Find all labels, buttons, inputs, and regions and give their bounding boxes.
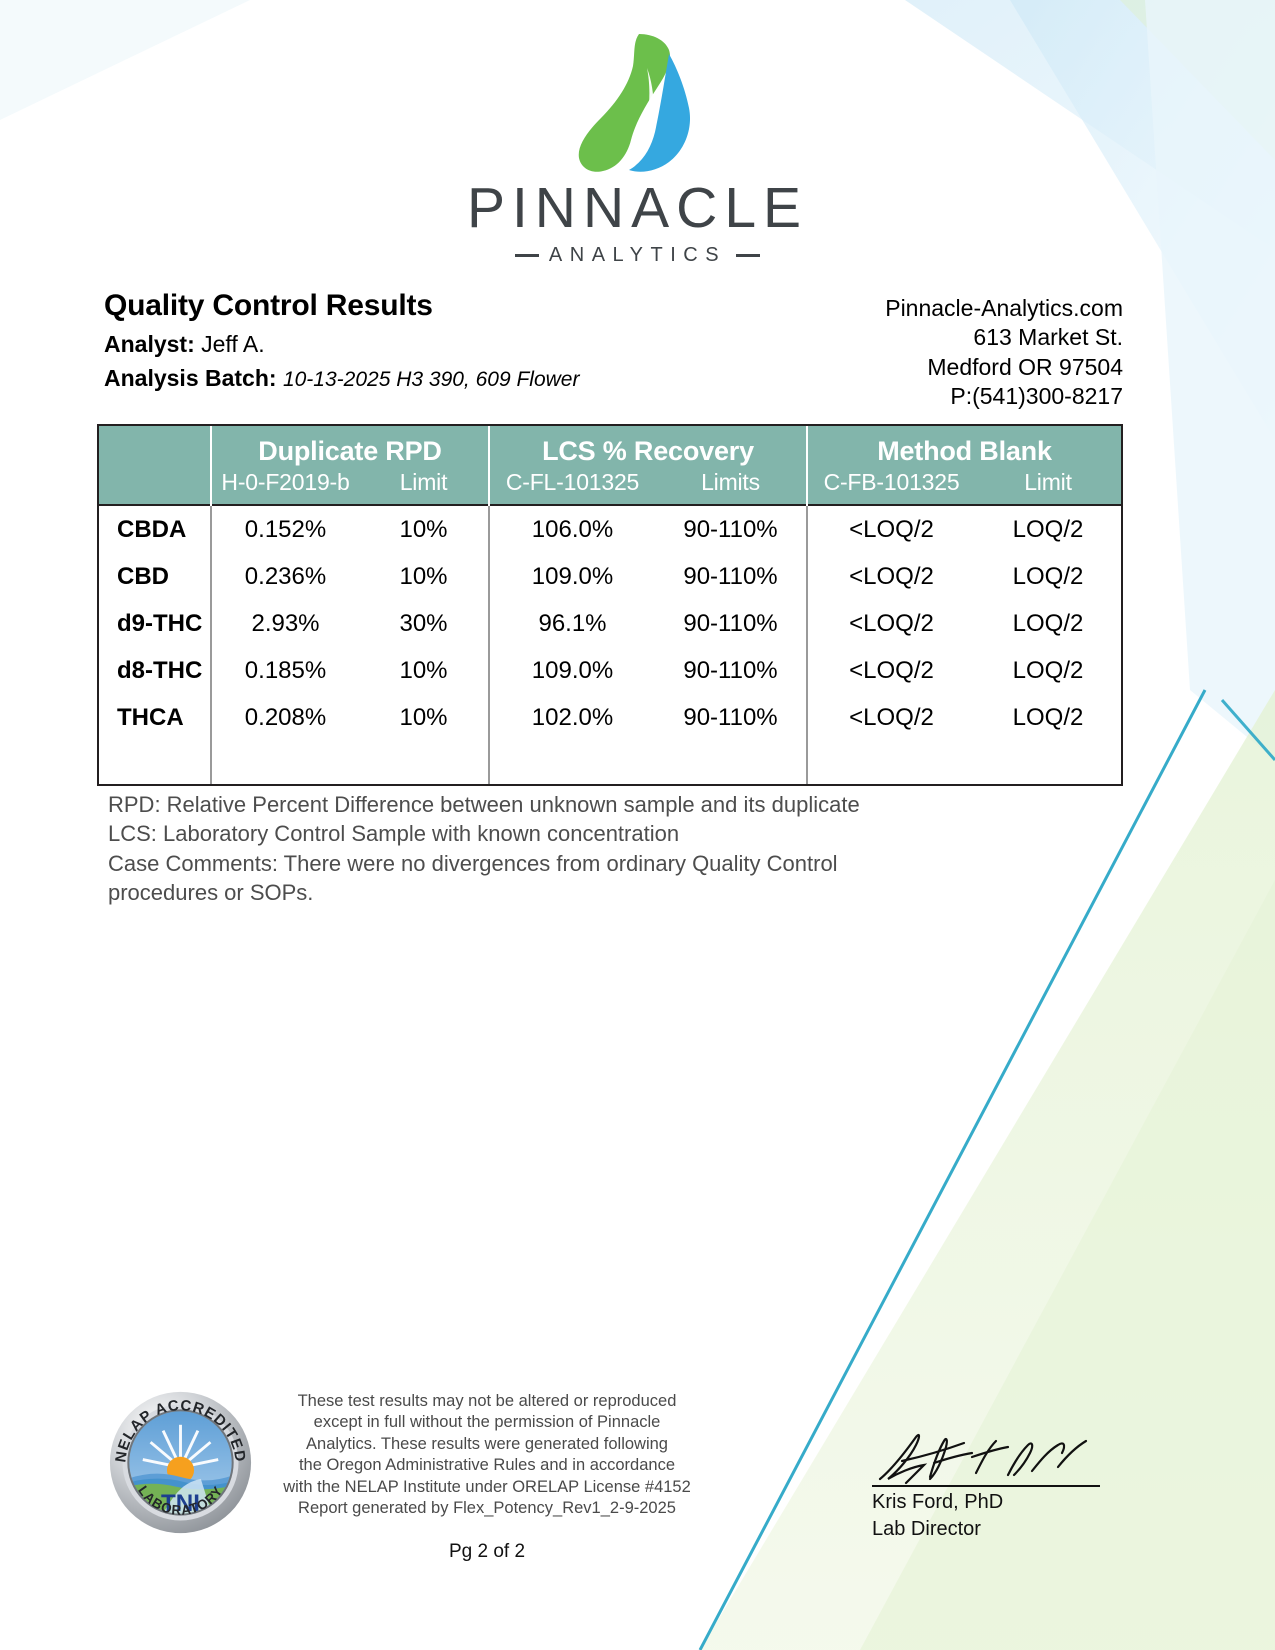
row-blank-value: <LOQ/2 [807, 553, 975, 600]
subheader-lcs-limits: Limits [655, 469, 807, 505]
row-lcs-value: 109.0% [489, 553, 655, 600]
row-blank-limit: LOQ/2 [975, 600, 1121, 647]
disclaimer-line-6: Report generated by Flex_Potency_Rev1_2-… [252, 1498, 722, 1519]
row-blank-value: <LOQ/2 [807, 647, 975, 694]
subheader-empty [99, 469, 211, 505]
analysis-batch-row: Analysis Batch: 10-13-2025 H3 390, 609 F… [104, 363, 824, 394]
spacer-cell [807, 741, 975, 784]
row-lcs-value: 109.0% [489, 647, 655, 694]
analysis-batch-value: 10-13-2025 H3 390, 609 Flower [283, 368, 580, 391]
table-row: d8-THC 0.185% 10% 109.0% 90-110% <LOQ/2 … [99, 647, 1121, 694]
group-header-empty [99, 426, 211, 469]
logo-rule-left [515, 254, 539, 257]
note-rpd-definition: RPD: Relative Percent Difference between… [108, 790, 1088, 819]
row-blank-value: <LOQ/2 [807, 505, 975, 553]
disclaimer-line-4: the Oregon Administrative Rules and in a… [252, 1455, 722, 1476]
spacer-cell [359, 741, 489, 784]
group-header-method-blank: Method Blank [807, 426, 1121, 469]
contact-phone: P:(541)300-8217 [885, 382, 1123, 411]
row-rpd-value: 0.152% [211, 505, 359, 553]
logo-subtitle-row: ANALYTICS [0, 244, 1275, 267]
spacer-cell [975, 741, 1121, 784]
spacer-cell [211, 741, 359, 784]
logo-wordmark: PINNACLE [0, 180, 1275, 237]
flask-icon [573, 28, 703, 178]
row-blank-limit: LOQ/2 [975, 505, 1121, 553]
row-blank-limit: LOQ/2 [975, 647, 1121, 694]
row-lcs-limits: 90-110% [655, 505, 807, 553]
nelap-tni-accreditation-seal-icon: TNI NELAP ACCREDITED LABORATORY [108, 1390, 253, 1535]
qc-report-page: PINNACLE ANALYTICS Quality Control Resul… [0, 0, 1275, 1650]
subheader-rpd-limit: Limit [359, 469, 489, 505]
subheader-lcs-sample-id: C-FL-101325 [489, 469, 655, 505]
row-lcs-limits: 90-110% [655, 694, 807, 741]
logo-subtitle: ANALYTICS [549, 244, 726, 267]
row-rpd-value: 0.208% [211, 694, 359, 741]
brand-logo: PINNACLE ANALYTICS [0, 28, 1275, 267]
row-rpd-limit: 10% [359, 694, 489, 741]
quality-control-table: Duplicate RPD LCS % Recovery Method Blan… [97, 424, 1123, 786]
table-row: CBDA 0.152% 10% 106.0% 90-110% <LOQ/2 LO… [99, 505, 1121, 553]
group-header-lcs-recovery: LCS % Recovery [489, 426, 807, 469]
row-blank-limit: LOQ/2 [975, 694, 1121, 741]
page-title: Quality Control Results [104, 290, 824, 322]
subheader-blank-limit: Limit [975, 469, 1121, 505]
note-lcs-definition: LCS: Laboratory Control Sample with know… [108, 819, 1088, 848]
row-blank-value: <LOQ/2 [807, 694, 975, 741]
row-rpd-limit: 10% [359, 553, 489, 600]
disclaimer-line-2: except in full without the permission of… [252, 1412, 722, 1433]
row-lcs-value: 96.1% [489, 600, 655, 647]
table-row: CBD 0.236% 10% 109.0% 90-110% <LOQ/2 LOQ… [99, 553, 1121, 600]
analyst-value: Jeff A. [201, 331, 265, 357]
table-group-header-row: Duplicate RPD LCS % Recovery Method Blan… [99, 426, 1121, 469]
row-lcs-value: 106.0% [489, 505, 655, 553]
row-rpd-limit: 10% [359, 505, 489, 553]
table-row: THCA 0.208% 10% 102.0% 90-110% <LOQ/2 LO… [99, 694, 1121, 741]
contact-website[interactable]: Pinnacle-Analytics.com [885, 294, 1123, 323]
signer-title: Lab Director [872, 1518, 1122, 1541]
disclaimer-line-3: Analytics. These results were generated … [252, 1434, 722, 1455]
row-rpd-value: 0.185% [211, 647, 359, 694]
row-rpd-value: 0.236% [211, 553, 359, 600]
row-rpd-limit: 30% [359, 600, 489, 647]
row-analyte-name: CBDA [99, 505, 211, 553]
logo-rule-right [736, 254, 760, 257]
row-rpd-limit: 10% [359, 647, 489, 694]
table-subheader-row: H-0-F2019-b Limit C-FL-101325 Limits C-F… [99, 469, 1121, 505]
row-blank-value: <LOQ/2 [807, 600, 975, 647]
row-analyte-name: THCA [99, 694, 211, 741]
row-blank-limit: LOQ/2 [975, 553, 1121, 600]
table-notes: RPD: Relative Percent Difference between… [108, 790, 1088, 907]
analyst-row: Analyst: Jeff A. [104, 329, 824, 359]
row-analyte-name: CBD [99, 553, 211, 600]
group-header-duplicate-rpd: Duplicate RPD [211, 426, 489, 469]
disclaimer-line-5: with the NELAP Institute under ORELAP Li… [252, 1477, 722, 1498]
contact-city-state-zip: Medford OR 97504 [885, 353, 1123, 382]
row-lcs-limits: 90-110% [655, 600, 807, 647]
row-lcs-limits: 90-110% [655, 553, 807, 600]
row-analyte-name: d8-THC [99, 647, 211, 694]
note-case-comments-line1: Case Comments: There were no divergences… [108, 849, 1088, 878]
subheader-blank-sample-id: C-FB-101325 [807, 469, 975, 505]
note-case-comments-line2: procedures or SOPs. [108, 878, 1088, 907]
page-number: Pg 2 of 2 [252, 1541, 722, 1563]
row-analyte-name: d9-THC [99, 600, 211, 647]
subheader-rpd-sample-id: H-0-F2019-b [211, 469, 359, 505]
footer-disclaimer: These test results may not be altered or… [252, 1391, 722, 1520]
contact-street: 613 Market St. [885, 323, 1123, 352]
disclaimer-line-1: These test results may not be altered or… [252, 1391, 722, 1412]
spacer-cell [99, 741, 211, 784]
spacer-cell [489, 741, 655, 784]
table-row: d9-THC 2.93% 30% 96.1% 90-110% <LOQ/2 LO… [99, 600, 1121, 647]
signature-icon [872, 1427, 1112, 1497]
row-lcs-limits: 90-110% [655, 647, 807, 694]
table-spacer-row [99, 741, 1121, 784]
analysis-batch-label: Analysis Batch: [104, 365, 277, 391]
signature-block: Kris Ford, PhD Lab Director [872, 1433, 1122, 1541]
report-header: Quality Control Results Analyst: Jeff A.… [104, 290, 824, 398]
analyst-label: Analyst: [104, 331, 195, 357]
row-rpd-value: 2.93% [211, 600, 359, 647]
spacer-cell [655, 741, 807, 784]
contact-block: Pinnacle-Analytics.com 613 Market St. Me… [885, 294, 1123, 412]
row-lcs-value: 102.0% [489, 694, 655, 741]
